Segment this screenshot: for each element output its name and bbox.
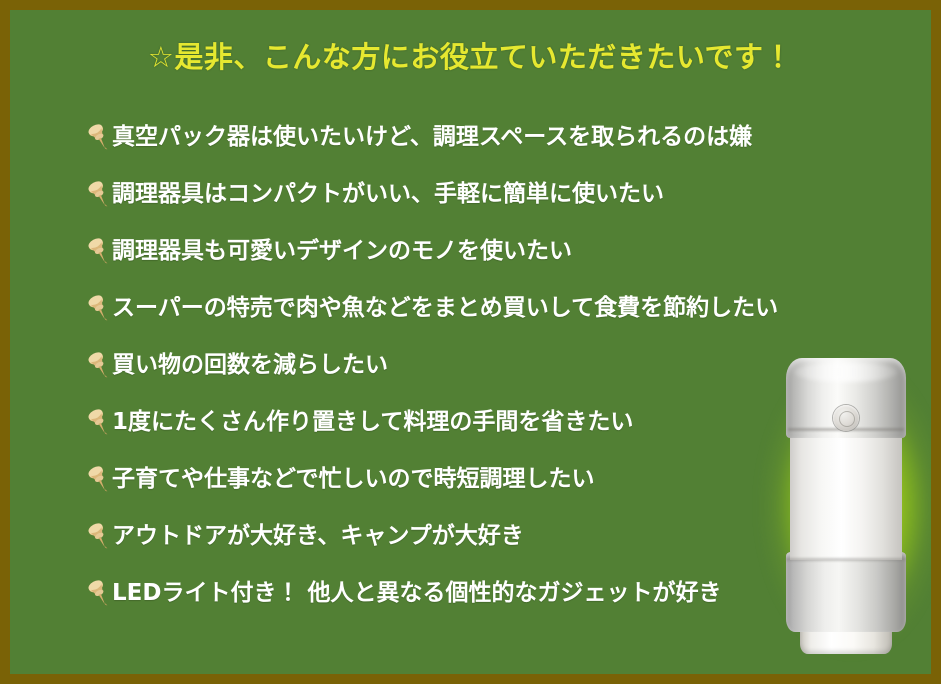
list-item: 調理器具も可愛いデザインのモノを使いたい [86,223,876,280]
pushpin-icon [86,179,112,209]
device-lower-band [786,552,906,632]
pushpin-icon [86,578,112,608]
pushpin-icon [86,236,112,266]
list-item: 真空パック器は使いたいけど、調理スペースを取られるのは嫌 [86,109,876,166]
pushpin-icon [86,521,112,551]
list-item: 調理器具はコンパクトがいい、手軽に簡単に使いたい [86,166,876,223]
list-item-label: 子育てや仕事などで忙しいので時短調理したい [112,467,595,492]
list-item-label: 真空パック器は使いたいけど、調理スペースを取られるのは嫌 [112,125,752,150]
list-item-label: 1度にたくさん作り置きして料理の手間を省きたい [112,410,633,435]
product-photo [754,328,941,684]
pushpin-icon [86,293,112,323]
slide-canvas: ☆是非、こんな方にお役立ていただきたいです！ 真空パック器は使いたいけど、調理ス… [0,0,941,684]
list-item-label: LEDライト付き！ 他人と異なる個性的なガジェットが好き [112,581,721,606]
cap-highlight [794,362,898,382]
list-item-label: スーパーの特売で肉や魚などをまとめ買いして食費を節約したい [112,296,778,321]
pushpin-icon [86,464,112,494]
pushpin-icon [86,122,112,152]
page-title: ☆是非、こんな方にお役立ていただきたいです！ [10,40,931,75]
pushpin-icon [86,350,112,380]
list-item-label: 調理器具はコンパクトがいい、手軽に簡単に使いたい [112,182,664,207]
list-item-label: 買い物の回数を減らしたい [112,353,388,378]
list-item-label: 調理器具も可愛いデザインのモノを使いたい [112,239,572,264]
device-seam-lower [786,558,906,561]
vacuum-sealer-device [786,358,906,654]
pushpin-icon [86,407,112,437]
device-power-button-icon [833,405,859,431]
device-frosted-body [790,430,902,560]
list-item-label: アウトドアが大好き、キャンプが大好き [112,524,524,549]
